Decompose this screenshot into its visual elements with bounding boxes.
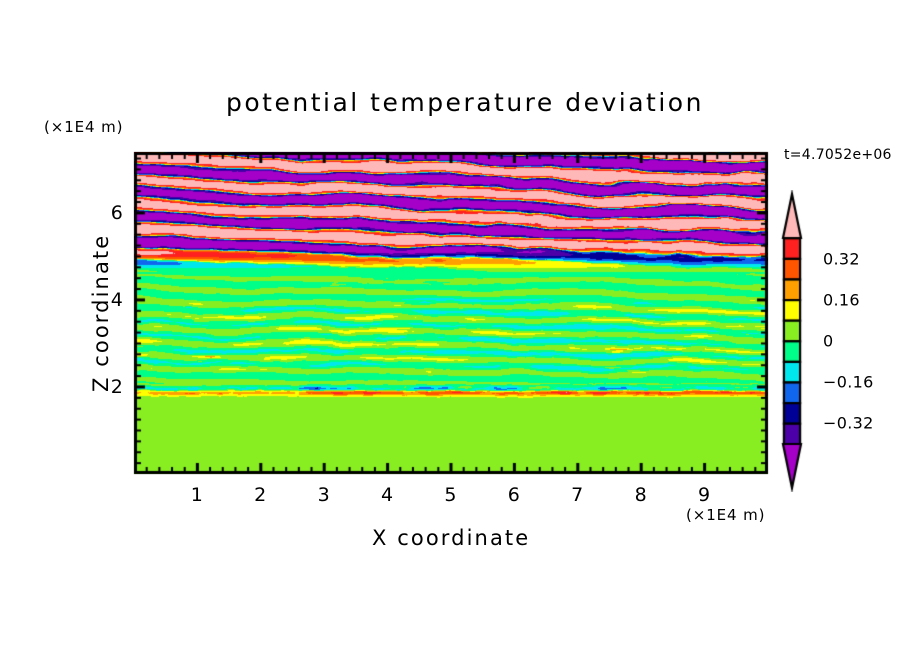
z-tick-label: 4 — [102, 289, 124, 311]
x-tick-label: 5 — [444, 484, 457, 506]
colorbar-tick-label: 0.16 — [823, 290, 860, 309]
z-axis-unit-label: (×1E4 m) — [44, 118, 123, 136]
x-tick-label: 3 — [318, 484, 331, 506]
x-axis-unit-label: (×1E4 m) — [686, 506, 765, 524]
time-annotation: t=4.7052e+06 — [784, 147, 892, 163]
plot-frame-and-ticks — [130, 148, 772, 478]
x-tick-label: 9 — [698, 484, 711, 506]
colorbar-tick-label: −0.32 — [823, 414, 874, 433]
z-tick-label: 6 — [102, 202, 124, 224]
x-axis-title: X coordinate — [372, 526, 530, 550]
x-tick-label: 7 — [571, 484, 584, 506]
x-tick-label: 1 — [191, 484, 204, 506]
x-tick-label: 8 — [635, 484, 648, 506]
colorbar-tick-label: 0.32 — [823, 249, 860, 268]
x-tick-label: 4 — [381, 484, 394, 506]
z-tick-label: 2 — [102, 376, 124, 398]
x-tick-label: 6 — [508, 484, 521, 506]
y-axis-title: Z coordinate — [89, 234, 113, 392]
x-tick-label: 2 — [254, 484, 267, 506]
colorbar — [779, 190, 805, 492]
page-title: potential temperature deviation — [226, 88, 704, 117]
colorbar-tick-label: −0.16 — [823, 373, 874, 392]
colorbar-tick-label: 0 — [823, 332, 834, 351]
